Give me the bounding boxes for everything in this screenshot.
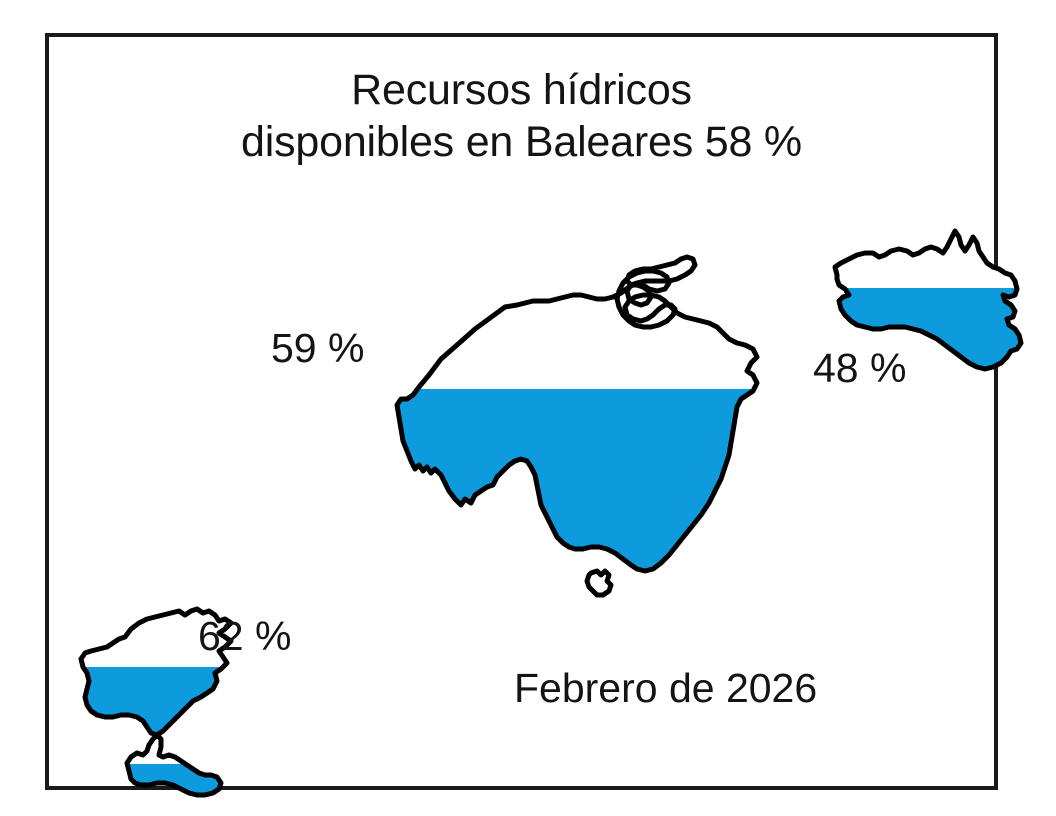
percent-label-mallorca: 59 % xyxy=(271,325,364,372)
island-mallorca xyxy=(379,247,799,577)
date-caption: Febrero de 2026 xyxy=(514,665,817,712)
island-cabrera xyxy=(569,557,629,617)
chart-frame: Recursos hídricos disponibles en Baleare… xyxy=(45,33,998,790)
page-title: Recursos hídricos disponibles en Baleare… xyxy=(49,65,994,168)
percent-label-menorca: 48 % xyxy=(813,345,906,392)
island-formentera xyxy=(109,727,239,816)
infographic-canvas: Recursos hídricos disponibles en Baleare… xyxy=(0,0,1056,816)
cabrera-outline xyxy=(587,571,611,595)
percent-label-ibiza: 62 % xyxy=(198,613,291,660)
